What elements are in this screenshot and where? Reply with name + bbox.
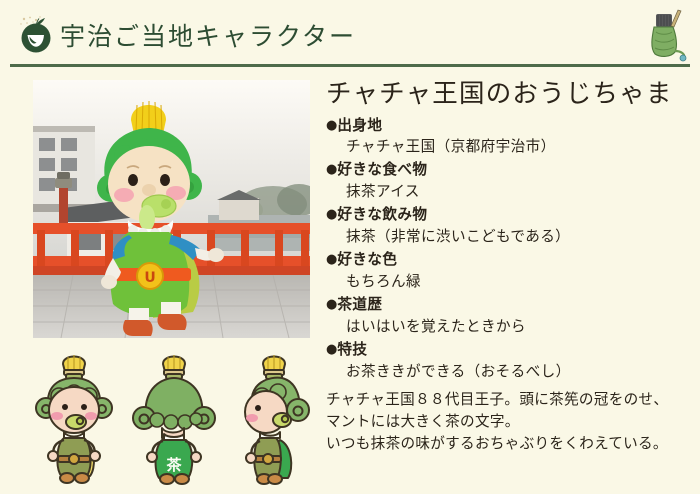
fact-label: ●茶道歴 <box>326 295 694 316</box>
fact-item-special-skill: ●特技 お茶ききができる（おそるべし） <box>326 340 694 382</box>
chibi-illustration-row: 茶 <box>22 348 318 488</box>
bullet-icon: ● <box>326 118 337 133</box>
character-fact-list: ●出身地 チャチャ王国（京都府宇治市） ●好きな食べ物 抹茶アイス ●好きな飲み… <box>326 116 694 382</box>
fact-label: ●出身地 <box>326 116 694 137</box>
fact-value: もちろん緑 <box>326 271 694 292</box>
bullet-icon: ● <box>326 162 337 177</box>
fact-label: ●好きな色 <box>326 250 694 271</box>
fact-value: はいはいを覚えたときから <box>326 316 694 337</box>
fact-item-tea-ceremony-history: ●茶道歴 はいはいを覚えたときから <box>326 295 694 337</box>
fact-label-text: 好きな食べ物 <box>337 161 427 178</box>
chasen-mascot-icon <box>642 4 688 62</box>
fact-label-text: 特技 <box>337 341 367 358</box>
fact-label-text: 好きな飲み物 <box>337 206 427 223</box>
page-title: 宇治ご当地キャラクター <box>60 17 356 53</box>
chibi-side-view <box>222 348 318 488</box>
fact-item-favorite-drink: ●好きな飲み物 抹茶（非常に渋いこどもである） <box>326 205 694 247</box>
fact-value: チャチャ王国（京都府宇治市） <box>326 136 694 157</box>
fact-value: 抹茶アイス <box>326 181 694 202</box>
character-info-panel: チャチャ王国のおうじちゃま ●出身地 チャチャ王国（京都府宇治市） ●好きな食べ… <box>326 80 694 455</box>
bullet-icon: ● <box>326 252 337 267</box>
description-line: チャチャ王国８８代目王子。頭に茶筅の冠をのせ、 <box>326 389 694 411</box>
page-header: 宇治ご当地キャラクター <box>0 0 700 70</box>
fact-item-favorite-color: ●好きな色 もちろん緑 <box>326 250 694 292</box>
fact-value: 抹茶（非常に渋いこどもである） <box>326 226 694 247</box>
svg-text:茶: 茶 <box>165 456 182 474</box>
chibi-front-view <box>26 348 122 488</box>
fact-label: ●特技 <box>326 340 694 361</box>
fact-label: ●好きな食べ物 <box>326 160 694 181</box>
description-line: いつも抹茶の味がするおちゃぶりをくわえている。 <box>326 433 694 455</box>
tea-cup-leaf-logo-icon <box>16 15 56 55</box>
character-profile-page: 宇治ご当地キャラクター <box>0 0 700 494</box>
character-description: チャチャ王国８８代目王子。頭に茶筅の冠をのせ、 マントには大きく茶の文字。 いつ… <box>326 389 694 456</box>
fact-value: お茶ききができる（おそるべし） <box>326 361 694 382</box>
fact-item-favorite-food: ●好きな食べ物 抹茶アイス <box>326 160 694 202</box>
bullet-icon: ● <box>326 207 337 222</box>
svg-text:U: U <box>144 270 155 286</box>
mascot-photo: U <box>33 80 310 338</box>
fact-item-birthplace: ●出身地 チャチャ王国（京都府宇治市） <box>326 116 694 158</box>
fact-label: ●好きな飲み物 <box>326 205 694 226</box>
fact-label-text: 茶道歴 <box>337 296 382 313</box>
header-divider <box>10 64 690 67</box>
bullet-icon: ● <box>326 342 337 357</box>
character-name-heading: チャチャ王国のおうじちゃま <box>326 80 694 109</box>
bullet-icon: ● <box>326 297 337 312</box>
fact-label-text: 出身地 <box>337 117 382 134</box>
description-line: マントには大きく茶の文字。 <box>326 411 694 433</box>
fact-label-text: 好きな色 <box>337 251 397 268</box>
chibi-back-view: 茶 <box>126 348 222 488</box>
